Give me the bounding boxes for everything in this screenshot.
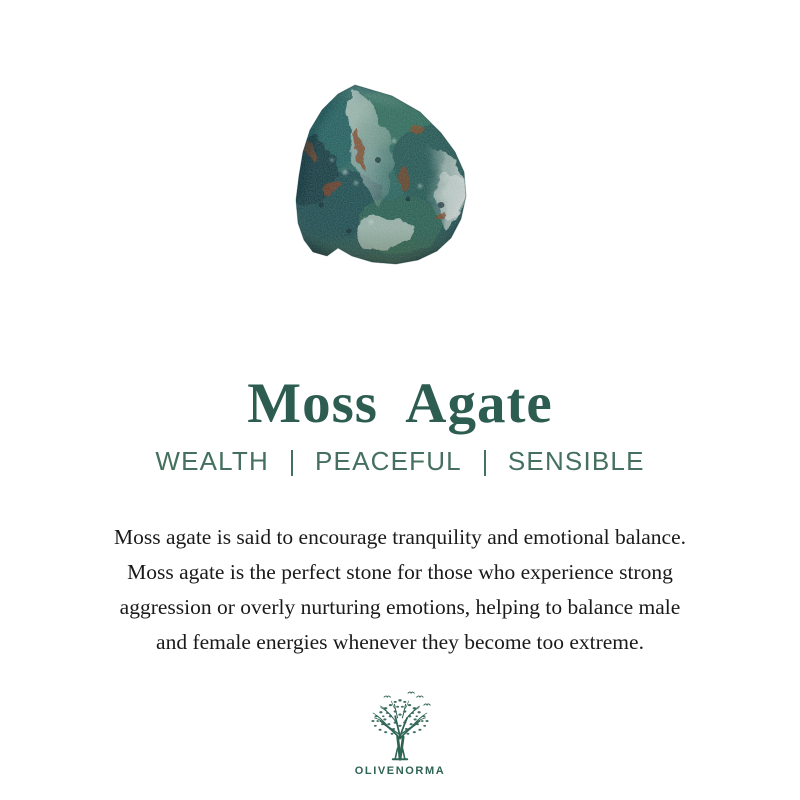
description-line-4: and female energies whenever they become… — [40, 625, 760, 660]
stone-body — [280, 70, 490, 280]
keyword-wealth: WEALTH — [153, 446, 271, 477]
stone-outline — [296, 85, 466, 264]
olive-tree-icon — [360, 686, 440, 764]
description-text: Moss agate is said to encourage tranquil… — [40, 520, 760, 660]
keyword-sensible: SENSIBLE — [506, 446, 647, 477]
brand-wordmark: OLIVENORMA — [355, 765, 446, 777]
keyword-peaceful: PEACEFUL — [313, 446, 464, 477]
moss-agate-stone-image — [0, 0, 800, 300]
description-line-3: aggression or overly nurturing emotions,… — [40, 590, 760, 625]
description-line-1: Moss agate is said to encourage tranquil… — [40, 520, 760, 555]
gemstone-card: Moss Agate WEALTH PEACEFUL SENSIBLE Moss… — [0, 0, 800, 800]
stone-image-container — [0, 0, 800, 300]
keyword-separator-1 — [291, 450, 293, 476]
keyword-list: WEALTH PEACEFUL SENSIBLE — [0, 446, 800, 477]
description-line-2: Moss agate is the perfect stone for thos… — [40, 555, 760, 590]
keyword-separator-2 — [484, 450, 486, 476]
brand-logo: OLIVENORMA — [0, 686, 800, 777]
birds-icon — [384, 692, 430, 705]
page-title: Moss Agate — [0, 374, 800, 434]
